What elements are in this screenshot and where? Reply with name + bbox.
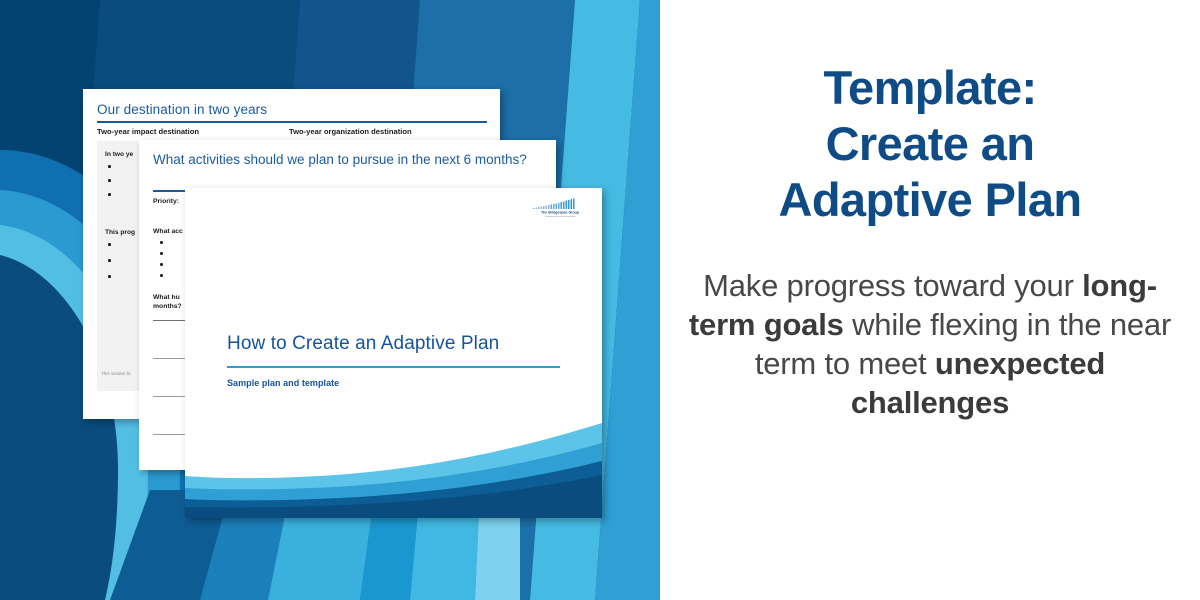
page-title: Template: Create an Adaptive Plan xyxy=(778,60,1081,228)
label-what-human-line2: months? xyxy=(153,303,182,310)
label-what-accomplish: What acc xyxy=(153,228,183,235)
subhead-part-1: Make progress toward your xyxy=(703,268,1082,303)
slide-title: How to Create an Adaptive Plan xyxy=(227,333,499,355)
slide-title: What activities should we plan to pursue… xyxy=(153,151,533,168)
title-rule xyxy=(227,366,560,368)
headline-line-1: Template: xyxy=(778,60,1081,116)
column-header-organization: Two-year organization destination xyxy=(289,127,412,136)
bullet-marker xyxy=(108,179,111,182)
bullet-marker xyxy=(108,193,111,196)
promo-subheadline: Make progress toward your long-term goal… xyxy=(688,266,1172,422)
bullet-marker xyxy=(160,263,163,266)
slide-deck-graphic-panel: Our destination in two years Two-year im… xyxy=(0,0,660,600)
headline-line-2: Create an xyxy=(778,116,1081,172)
headline-line-3: Adaptive Plan xyxy=(778,172,1081,228)
slide-swoosh-decoration xyxy=(185,413,602,518)
label-what-human: What hu xyxy=(153,294,180,301)
bullet-marker xyxy=(108,275,111,278)
slide-title: Our destination in two years xyxy=(97,102,267,117)
logo-tagline: Collaborating to accelerate social impac… xyxy=(545,215,576,218)
bridgespan-logo-icon: The Bridgespan Group Collaborating to ac… xyxy=(530,198,590,220)
slide-title-card[interactable]: The Bridgespan Group Collaborating to ac… xyxy=(185,188,602,518)
bullet-marker xyxy=(160,274,163,277)
slide-footnote: This section fo xyxy=(101,371,131,376)
title-rule xyxy=(97,121,487,123)
label-priority: Priority: xyxy=(153,198,179,205)
bullet-marker xyxy=(160,252,163,255)
promo-text-column: Template: Create an Adaptive Plan Make p… xyxy=(660,0,1200,600)
bullet-marker xyxy=(108,243,111,246)
bullet-marker xyxy=(160,241,163,244)
bullet-marker xyxy=(108,165,111,168)
label-in-two-years: In two ye xyxy=(105,151,133,158)
label-this-progress: This prog xyxy=(105,229,135,236)
column-header-impact: Two-year impact destination xyxy=(97,127,199,136)
bullet-marker xyxy=(108,259,111,262)
slide-subtitle: Sample plan and template xyxy=(227,378,339,388)
logo-wordmark: The Bridgespan Group xyxy=(541,211,579,215)
